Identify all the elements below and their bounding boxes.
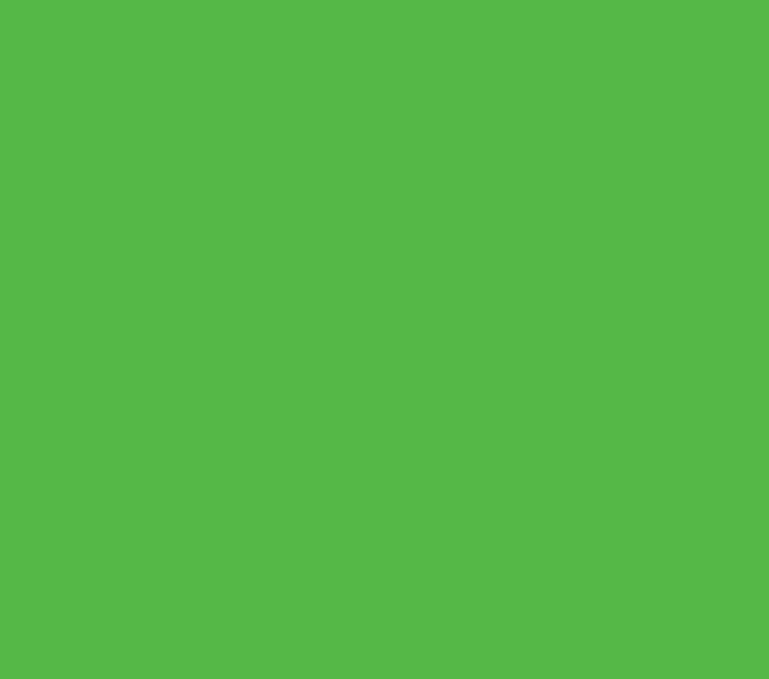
poster-canvas [0,0,769,679]
poster-artwork [0,0,769,679]
